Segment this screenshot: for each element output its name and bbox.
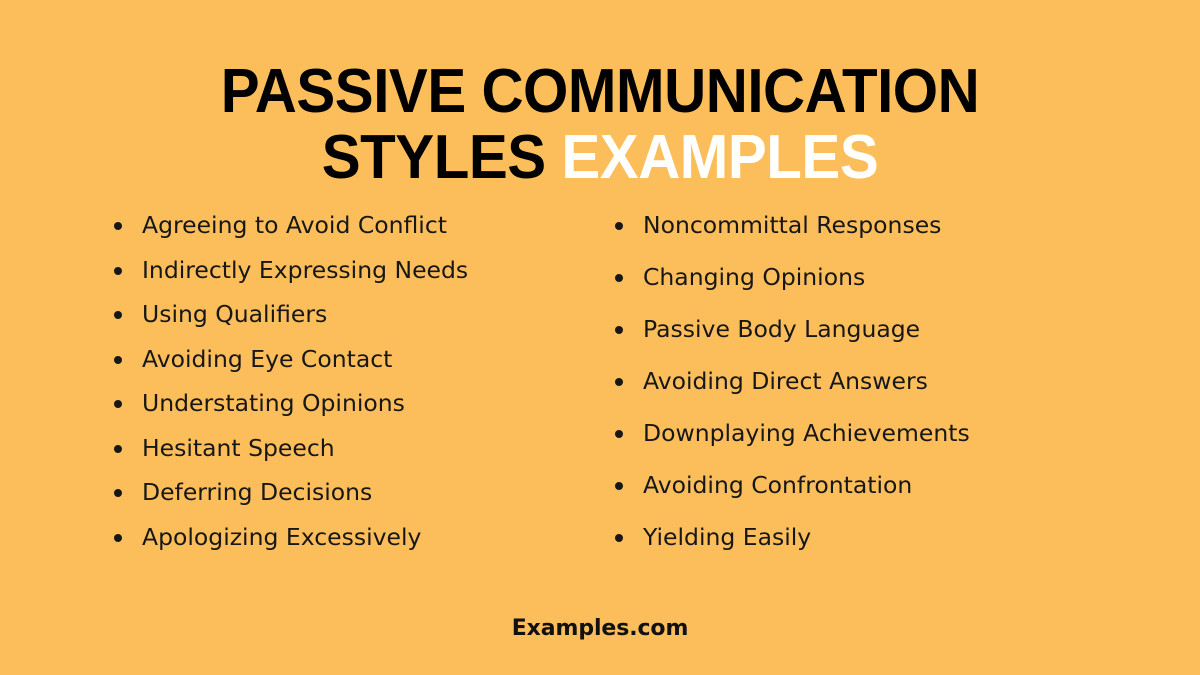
bullet-dot-icon bbox=[615, 274, 623, 282]
right-bullet-list: Noncommittal Responses Changing Opinions… bbox=[613, 214, 1200, 549]
list-item: Downplaying Achievements bbox=[613, 422, 1200, 445]
left-bullet-list: Agreeing to Avoid Conflict Indirectly Ex… bbox=[112, 214, 500, 549]
list-item-label: Passive Body Language bbox=[643, 318, 920, 341]
list-item: Agreeing to Avoid Conflict bbox=[112, 214, 500, 237]
list-item: Changing Opinions bbox=[613, 266, 1200, 289]
list-item: Hesitant Speech bbox=[112, 437, 500, 460]
list-item: Apologizing Excessively bbox=[112, 526, 500, 549]
bullet-dot-icon bbox=[615, 326, 623, 334]
list-item-label: Changing Opinions bbox=[643, 266, 865, 289]
list-item: Understating Opinions bbox=[112, 392, 500, 415]
list-item: Avoiding Direct Answers bbox=[613, 370, 1200, 393]
bullet-dot-icon bbox=[615, 482, 623, 490]
list-item: Deferring Decisions bbox=[112, 481, 500, 504]
bullet-dot-icon bbox=[114, 311, 122, 319]
title-line-2-accent: EXAMPLES bbox=[561, 123, 878, 192]
list-item-label: Avoiding Confrontation bbox=[643, 474, 912, 497]
bullet-dot-icon bbox=[615, 222, 623, 230]
brand-wordmark: Examples.com bbox=[512, 616, 689, 641]
footer: Examples.com bbox=[0, 616, 1200, 641]
bullet-dot-icon bbox=[114, 489, 122, 497]
list-item: Noncommittal Responses bbox=[613, 214, 1200, 237]
list-item-label: Apologizing Excessively bbox=[142, 526, 421, 549]
list-item: Passive Body Language bbox=[613, 318, 1200, 341]
bullet-dot-icon bbox=[615, 430, 623, 438]
page-title: PASSIVE COMMUNICATION STYLES EXAMPLES bbox=[0, 62, 1200, 188]
list-item-label: Avoiding Direct Answers bbox=[643, 370, 928, 393]
list-item-label: Yielding Easily bbox=[643, 526, 811, 549]
list-item: Indirectly Expressing Needs bbox=[112, 259, 500, 282]
list-item: Avoiding Confrontation bbox=[613, 474, 1200, 497]
bullet-dot-icon bbox=[114, 267, 122, 275]
bullet-dot-icon bbox=[114, 222, 122, 230]
list-item-label: Using Qualifiers bbox=[142, 303, 327, 326]
list-item-label: Indirectly Expressing Needs bbox=[142, 259, 468, 282]
list-item-label: Understating Opinions bbox=[142, 392, 405, 415]
bullet-dot-icon bbox=[615, 534, 623, 542]
list-item: Yielding Easily bbox=[613, 526, 1200, 549]
list-item-label: Deferring Decisions bbox=[142, 481, 372, 504]
list-item-label: Agreeing to Avoid Conflict bbox=[142, 214, 447, 237]
list-item: Using Qualifiers bbox=[112, 303, 500, 326]
title-line-1: PASSIVE COMMUNICATION bbox=[36, 62, 1164, 122]
bullet-dot-icon bbox=[114, 534, 122, 542]
examples-columns: Agreeing to Avoid Conflict Indirectly Ex… bbox=[0, 214, 1200, 584]
list-item: Avoiding Eye Contact bbox=[112, 348, 500, 371]
left-column: Agreeing to Avoid Conflict Indirectly Ex… bbox=[0, 214, 500, 549]
bullet-dot-icon bbox=[615, 378, 623, 386]
poster-canvas: PASSIVE COMMUNICATION STYLES EXAMPLES Ag… bbox=[0, 0, 1200, 675]
list-item-label: Downplaying Achievements bbox=[643, 422, 970, 445]
list-item-label: Hesitant Speech bbox=[142, 437, 335, 460]
bullet-dot-icon bbox=[114, 356, 122, 364]
title-line-2: STYLES EXAMPLES bbox=[36, 128, 1164, 188]
list-item-label: Avoiding Eye Contact bbox=[142, 348, 392, 371]
bullet-dot-icon bbox=[114, 400, 122, 408]
list-item-label: Noncommittal Responses bbox=[643, 214, 941, 237]
right-column: Noncommittal Responses Changing Opinions… bbox=[500, 214, 1200, 549]
bullet-dot-icon bbox=[114, 445, 122, 453]
title-line-2-primary: STYLES bbox=[322, 123, 546, 192]
